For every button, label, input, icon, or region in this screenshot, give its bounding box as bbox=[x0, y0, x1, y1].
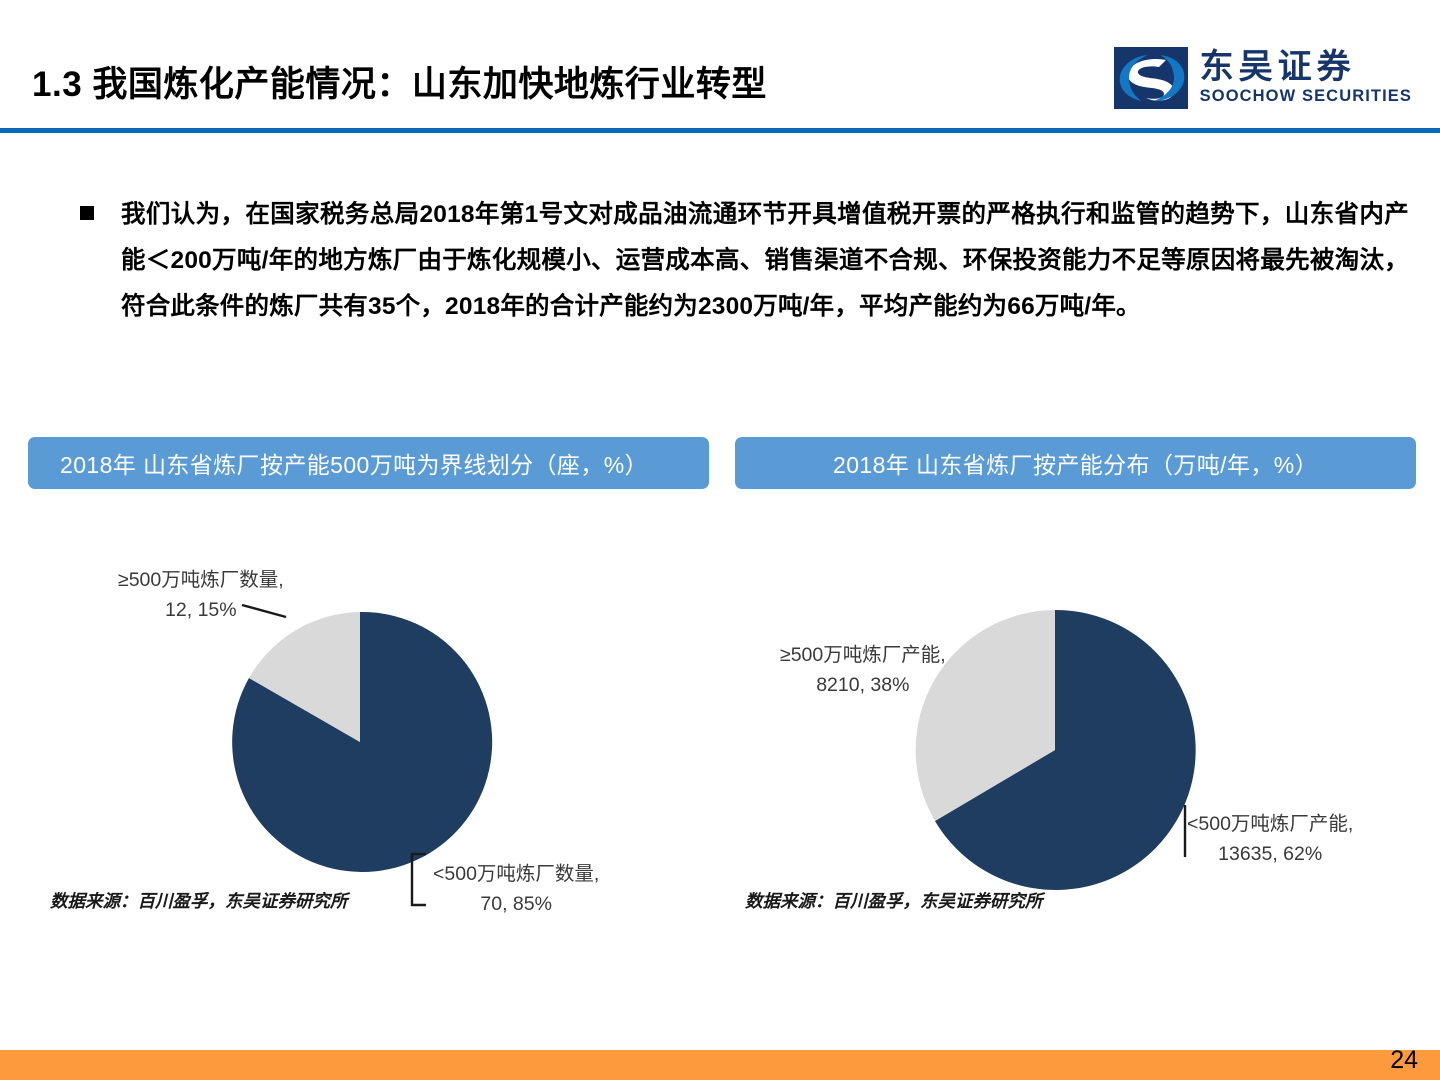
soochow-securities-logo-icon bbox=[1114, 47, 1188, 109]
logo-name-cn: 东吴证券 bbox=[1200, 50, 1412, 86]
chart-panel-left: 2018年 山东省炼厂按产能500万吨为界线划分（座，%） ≥500万吨炼厂数量… bbox=[28, 437, 709, 919]
body-paragraph: 我们认为，在国家税务总局2018年第1号文对成品油流通环节开具增值税开票的严格执… bbox=[121, 192, 1409, 330]
body-bullet: 我们认为，在国家税务总局2018年第1号文对成品油流通环节开具增值税开票的严格执… bbox=[80, 192, 1410, 330]
square-bullet-icon bbox=[80, 206, 94, 220]
footer-bar bbox=[0, 1050, 1440, 1080]
pie-chart-refinery-count: ≥500万吨炼厂数量, 12, 15% <500万吨炼厂数量, 70, 85% bbox=[28, 499, 709, 919]
pie-chart-left-svg bbox=[28, 499, 709, 919]
pie-label-lt500-capacity: <500万吨炼厂产能, 13635, 62% bbox=[1187, 809, 1353, 869]
pie-label-gte500-count-line2: 12, 15% bbox=[118, 595, 284, 625]
chart-title-right: 2018年 山东省炼厂按产能分布（万吨/年，%） bbox=[735, 437, 1416, 489]
pie-label-gte500-capacity: ≥500万吨炼厂产能, 8210, 38% bbox=[780, 640, 946, 700]
logo-wordmark: 东吴证券 SOOCHOW SECURITIES bbox=[1200, 50, 1412, 106]
pie-label-lt500-count-line1: <500万吨炼厂数量, bbox=[433, 863, 599, 885]
pie-label-gte500-capacity-line2: 8210, 38% bbox=[780, 670, 946, 700]
pie-chart-refinery-capacity: ≥500万吨炼厂产能, 8210, 38% <500万吨炼厂产能, 13635,… bbox=[735, 499, 1416, 919]
pie-label-gte500-count-line1: ≥500万吨炼厂数量, bbox=[118, 569, 284, 591]
pie-label-lt500-capacity-line2: 13635, 62% bbox=[1187, 839, 1353, 869]
slide: 1.3 我国炼化产能情况：山东加快地炼行业转型 东吴证券 SOOCHOW SEC… bbox=[0, 0, 1440, 1080]
source-note-right: 数据来源：百川盈孚，东吴证券研究所 bbox=[745, 888, 1043, 913]
page-number: 24 bbox=[1390, 1046, 1418, 1075]
source-note-left: 数据来源：百川盈孚，东吴证券研究所 bbox=[50, 888, 348, 913]
logo-name-en: SOOCHOW SECURITIES bbox=[1200, 86, 1412, 107]
header-divider bbox=[0, 128, 1440, 133]
pie-label-lt500-capacity-line1: <500万吨炼厂产能, bbox=[1187, 813, 1353, 835]
chart-panel-right: 2018年 山东省炼厂按产能分布（万吨/年，%） ≥500万吨炼厂产能, 821… bbox=[735, 437, 1416, 919]
chart-title-left: 2018年 山东省炼厂按产能500万吨为界线划分（座，%） bbox=[28, 437, 709, 489]
page-title: 1.3 我国炼化产能情况：山东加快地炼行业转型 bbox=[32, 56, 767, 107]
brand-logo: 东吴证券 SOOCHOW SECURITIES bbox=[1114, 47, 1412, 109]
pie-label-lt500-count-line2: 70, 85% bbox=[433, 889, 599, 919]
pie-label-gte500-count: ≥500万吨炼厂数量, 12, 15% bbox=[118, 565, 284, 625]
pie-label-lt500-count: <500万吨炼厂数量, 70, 85% bbox=[433, 859, 599, 919]
pie-label-gte500-capacity-line1: ≥500万吨炼厂产能, bbox=[780, 644, 946, 666]
leader-bracket-lt500-count bbox=[412, 854, 426, 905]
